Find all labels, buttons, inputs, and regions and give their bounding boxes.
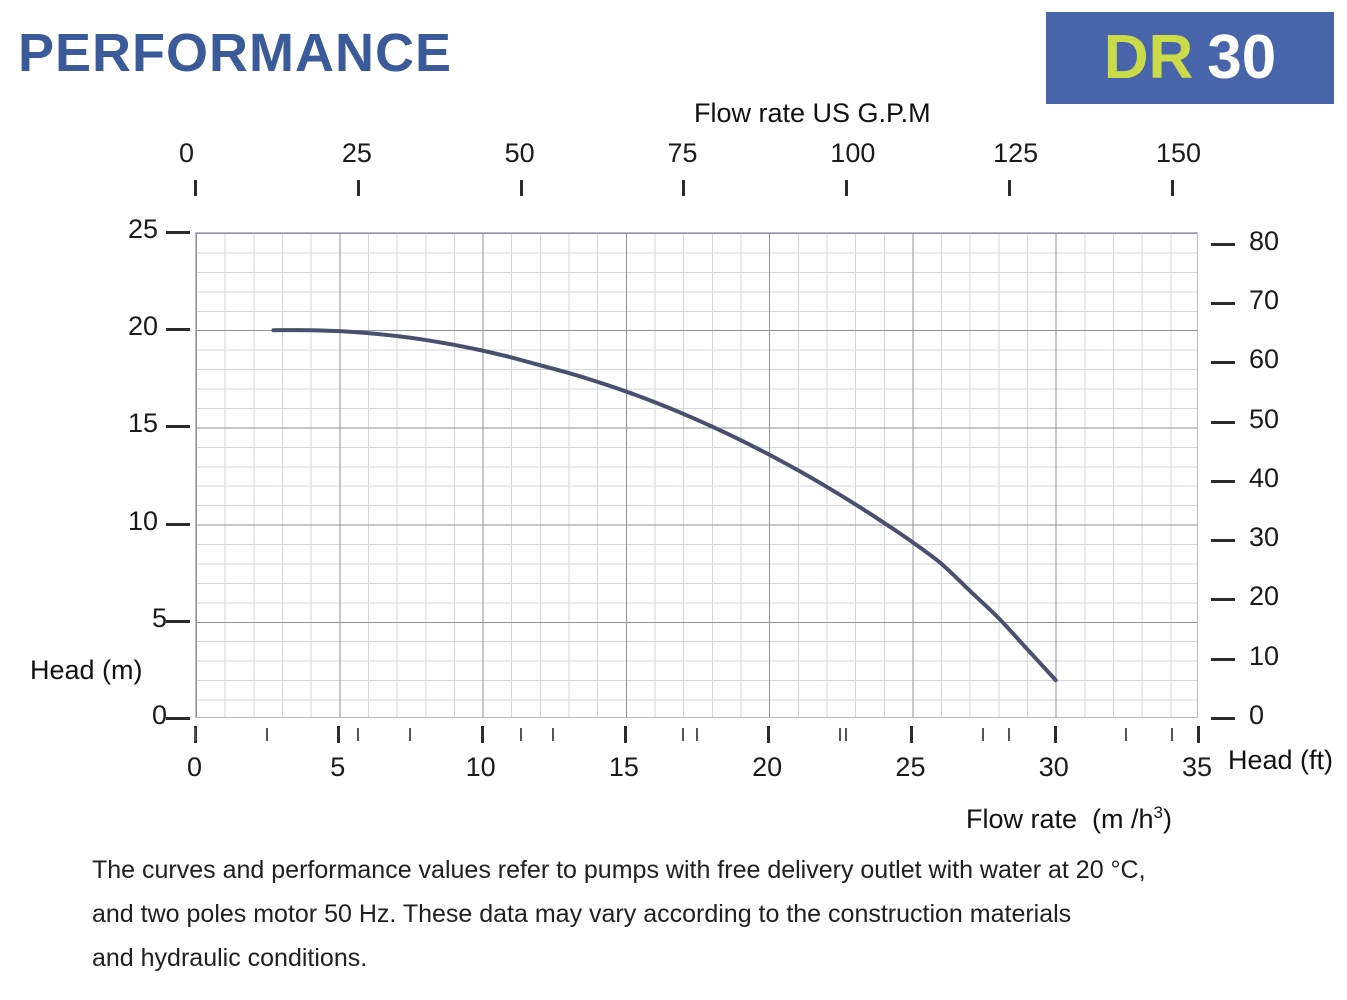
x-minor-tick-gpm-100 [845,728,847,741]
secondary-x-tick-150 [1171,180,1174,196]
secondary-x-tick-100 [845,180,848,196]
y-tick-dash-15 [166,425,190,428]
x-tick-25 [910,726,913,743]
secondary-y-tick-dash-30 [1211,539,1235,542]
secondary-x-tick-label-50: 50 [505,138,535,169]
x-tick-30 [1054,726,1057,743]
x-minor-tick-12.5 [552,728,554,741]
secondary-y-axis-title: Head (ft) [1228,745,1333,776]
x-minor-tick-gpm-75 [682,728,684,741]
secondary-y-tick-label-20: 20 [1249,581,1279,612]
x-tick-35 [1197,726,1200,743]
x-tick-20 [767,726,770,743]
secondary-y-tick-label-70: 70 [1249,285,1279,316]
x-minor-tick-gpm-125 [1008,728,1010,741]
x-tick-10 [481,726,484,743]
x-axis-title-text: Flow rate (m /h3) [966,804,1172,834]
x-minor-tick-gpm-150 [1171,728,1173,741]
x-minor-tick-gpm-50 [520,728,522,741]
secondary-y-tick-label-80: 80 [1249,226,1279,257]
secondary-x-tick-label-150: 150 [1156,138,1201,169]
x-minor-tick-gpm-0 [194,728,196,741]
x-minor-tick-7.5 [409,728,411,741]
secondary-x-tick-label-125: 125 [993,138,1038,169]
secondary-y-tick-dash-40 [1211,480,1235,483]
secondary-y-tick-label-40: 40 [1249,463,1279,494]
x-minor-tick-17.5 [696,728,698,741]
secondary-x-tick-75 [682,180,685,196]
plot-area [195,232,1198,718]
secondary-y-tick-label-30: 30 [1249,522,1279,553]
y-tick-label-10: 10 [128,506,158,537]
secondary-y-tick-dash-10 [1211,658,1235,661]
secondary-y-tick-dash-20 [1211,598,1235,601]
secondary-y-tick-label-0: 0 [1249,700,1264,731]
x-minor-tick-gpm-25 [357,728,359,741]
secondary-x-tick-label-25: 25 [342,138,372,169]
secondary-y-tick-dash-60 [1211,361,1235,364]
y-tick-dash-20 [166,328,190,331]
secondary-y-tick-label-60: 60 [1249,344,1279,375]
footnote-line-1: The curves and performance values refer … [92,848,1312,892]
y-tick-label-15: 15 [128,408,158,439]
x-tick-5 [337,726,340,743]
x-tick-label-0: 0 [187,752,202,783]
x-tick-label-5: 5 [330,752,345,783]
secondary-x-tick-25 [357,180,360,196]
footnote-line-3: and hydraulic conditions. [92,936,1312,980]
x-tick-15 [624,726,627,743]
secondary-x-tick-label-75: 75 [667,138,697,169]
footnote-line-2: and two poles motor 50 Hz. These data ma… [92,892,1312,936]
x-minor-tick-32.5 [1125,728,1127,741]
y-tick-dash-0 [166,717,190,720]
secondary-x-tick-0 [194,180,197,196]
performance-curve-svg [196,233,1199,719]
x-minor-tick-27.5 [982,728,984,741]
x-minor-tick-22.5 [839,728,841,741]
y-axis-title: Head (m) [30,655,143,686]
x-tick-label-25: 25 [895,752,925,783]
secondary-y-tick-dash-0 [1211,717,1235,720]
secondary-x-tick-125 [1008,180,1011,196]
y-tick-label-5: 5 [152,603,167,634]
footnote: The curves and performance values refer … [92,848,1312,980]
y-tick-label-20: 20 [128,311,158,342]
x-tick-label-15: 15 [609,752,639,783]
x-minor-tick-2.5 [266,728,268,741]
secondary-x-tick-label-0: 0 [179,138,194,169]
secondary-x-axis-title: Flow rate US G.P.M [694,98,931,129]
x-axis-title: Flow rate (m /h3) [966,803,1172,835]
y-tick-dash-25 [166,231,190,234]
secondary-x-tick-50 [520,180,523,196]
x-tick-label-20: 20 [752,752,782,783]
y-tick-dash-10 [166,523,190,526]
secondary-y-tick-dash-70 [1211,302,1235,305]
y-tick-dash-5 [166,620,190,623]
secondary-x-tick-label-100: 100 [830,138,875,169]
y-tick-label-0: 0 [152,700,167,731]
secondary-y-tick-dash-50 [1211,421,1235,424]
x-tick-label-30: 30 [1039,752,1069,783]
performance-curve [273,330,1055,680]
secondary-y-tick-dash-80 [1211,243,1235,246]
y-tick-label-25: 25 [128,214,158,245]
secondary-y-tick-label-10: 10 [1249,641,1279,672]
x-tick-label-35: 35 [1182,752,1212,783]
secondary-y-tick-label-50: 50 [1249,404,1279,435]
x-tick-label-10: 10 [466,752,496,783]
